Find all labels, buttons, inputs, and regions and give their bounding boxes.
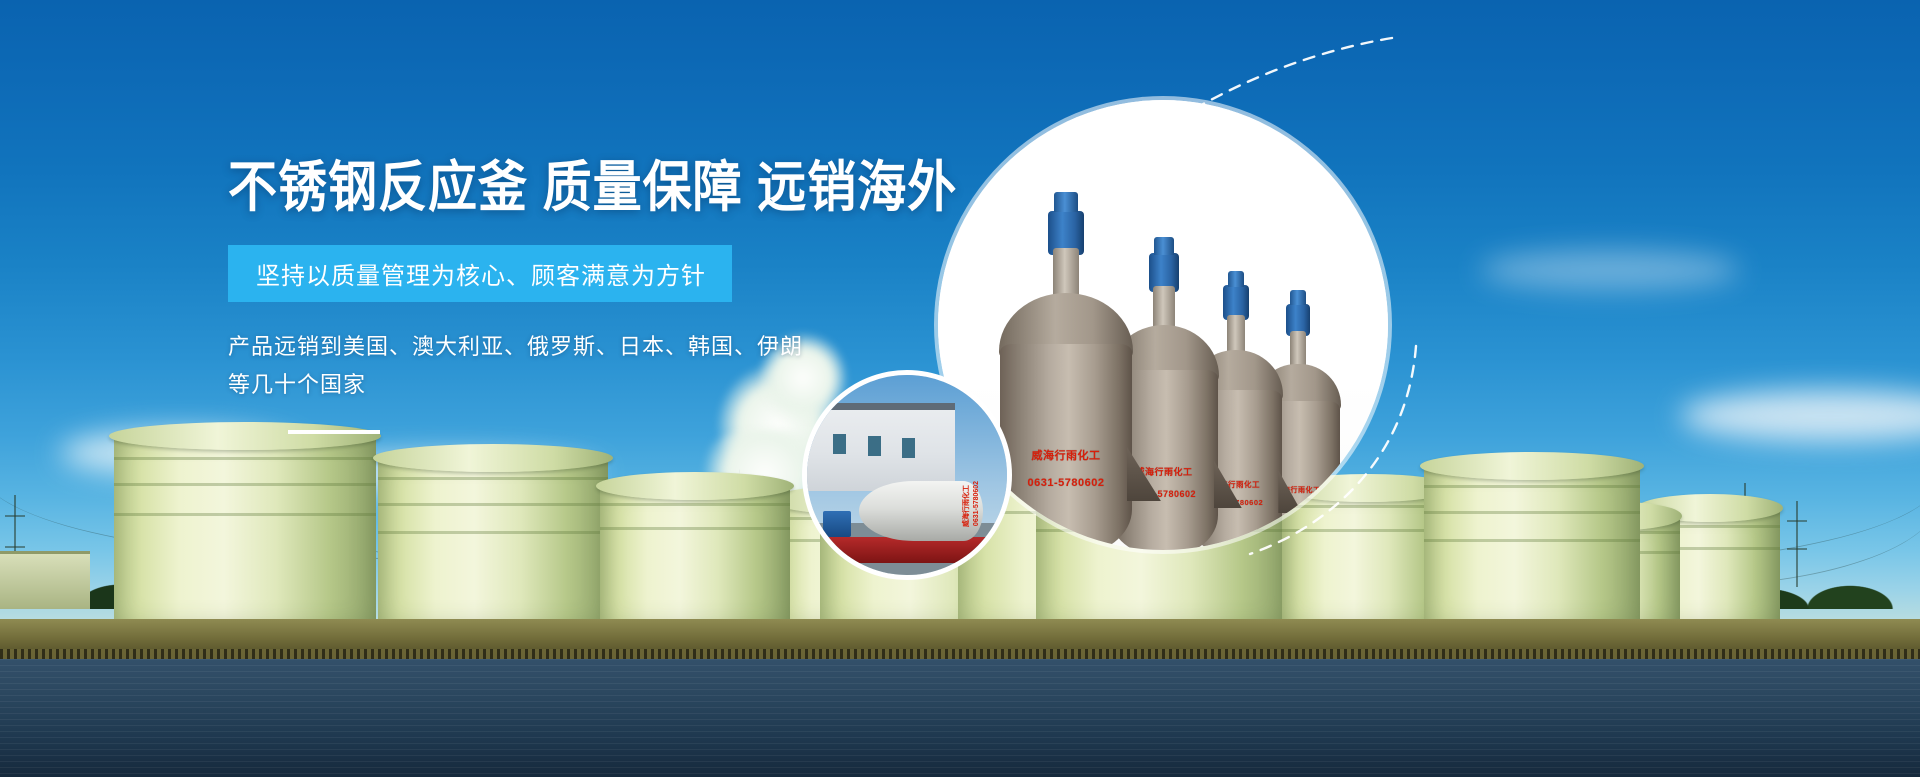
horizontal-vessel: 威海行雨化工 0631-5780602 xyxy=(859,481,983,541)
description-line: 等几十个国家 xyxy=(228,366,928,404)
vessel-caption-phone: 0631-5780602 xyxy=(1000,477,1132,491)
banner-copy: 不锈钢反应釜 质量保障 远销海外 坚持以质量管理为核心、顾客满意为方针 产品远销… xyxy=(228,160,928,434)
drive-motor xyxy=(823,511,851,537)
storage-tank xyxy=(378,457,608,627)
page-title: 不锈钢反应釜 质量保障 远销海外 xyxy=(228,160,928,218)
storage-tank xyxy=(114,435,376,627)
cloud-decoration xyxy=(1480,250,1740,290)
storage-tank xyxy=(600,485,790,627)
vessel-caption-phone: 0631-5780602 xyxy=(973,481,980,526)
vessel-caption-company: 威海行雨化工 xyxy=(1000,450,1132,464)
hero-banner: 威海行雨化工 0631-5780602 威海行雨化工 0631-5780602 … xyxy=(0,0,1920,777)
cloud-decoration xyxy=(1680,390,1920,442)
storage-tank xyxy=(1424,465,1640,627)
water-surface xyxy=(0,659,1920,777)
description-line: 产品远销到美国、澳大利亚、俄罗斯、日本、韩国、伊朗 xyxy=(228,328,928,366)
vessel-caption-company: 威海行雨化工 xyxy=(961,485,971,527)
slogan-text: 坚持以质量管理为核心、顾客满意为方针 xyxy=(256,263,706,290)
decorative-divider xyxy=(288,430,380,434)
plant-building xyxy=(0,551,90,609)
description-block: 产品远销到美国、澳大利亚、俄罗斯、日本、韩国、伊朗 等几十个国家 xyxy=(228,328,928,404)
slogan-badge: 坚持以质量管理为核心、顾客满意为方针 xyxy=(228,245,732,302)
reactor-vessel-primary: 威海行雨化工 0631-5780602 xyxy=(1000,214,1132,550)
